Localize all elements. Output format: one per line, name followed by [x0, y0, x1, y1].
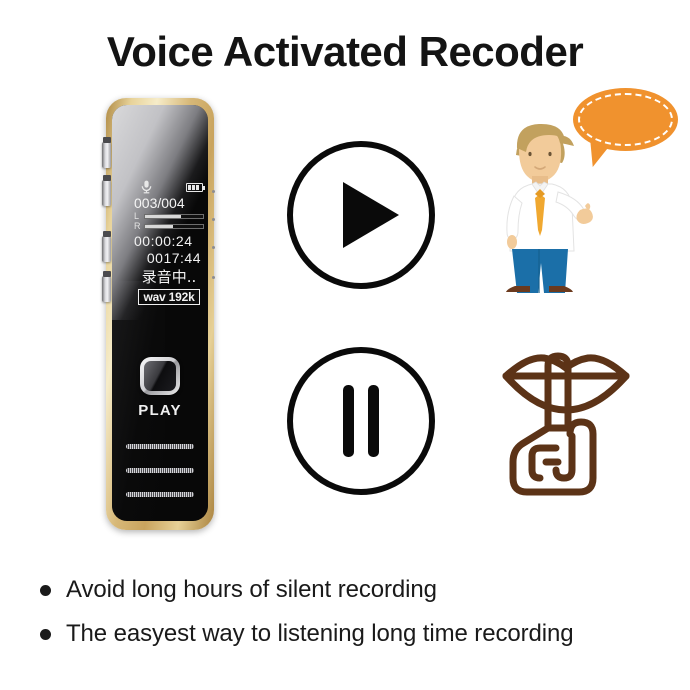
speaking-man-illustration	[488, 88, 688, 293]
device-play-button[interactable]	[140, 357, 180, 395]
device-edge-dot	[212, 246, 215, 249]
list-item: Avoid long hours of silent recording	[40, 575, 660, 605]
lcd-level-meter-left: L	[134, 212, 204, 221]
page-title: Voice Activated Recoder	[0, 28, 690, 76]
device-edge-dot	[212, 190, 215, 193]
lcd-status-text: 录音中..	[134, 268, 204, 286]
bullet-dot-icon	[40, 629, 51, 640]
lcd-level-meter-right: R	[134, 222, 204, 231]
speaker-grille-slot	[126, 492, 194, 497]
lcd-format-badge: wav 192k	[138, 289, 200, 305]
device-edge-dot	[212, 276, 215, 279]
microphone-icon	[141, 180, 152, 199]
lcd-total-time: 0017:44	[134, 250, 204, 267]
device-speaker-grille	[126, 444, 194, 497]
device-side-button-1[interactable]	[102, 142, 111, 168]
device-lcd-screen: 003/004 L R 00:00:24 0017:44 录音中.. wav 1…	[134, 180, 204, 288]
feature-bullet-text: The easyest way to listening long time r…	[66, 619, 573, 649]
list-item: The easyest way to listening long time r…	[40, 619, 660, 649]
battery-icon	[186, 183, 203, 192]
device-play-button-label: PLAY	[112, 402, 208, 419]
speaker-grille-slot	[126, 468, 194, 473]
bullet-dot-icon	[40, 585, 51, 596]
device-side-button-3[interactable]	[102, 236, 111, 262]
device-side-button-4[interactable]	[102, 276, 111, 302]
feature-bullet-list: Avoid long hours of silent recording The…	[40, 575, 660, 663]
device-front-panel: 003/004 L R 00:00:24 0017:44 录音中.. wav 1…	[112, 105, 208, 521]
pause-circle-icon[interactable]	[287, 347, 435, 495]
digital-voice-recorder: 003/004 L R 00:00:24 0017:44 录音中.. wav 1…	[106, 98, 214, 530]
shush-silence-icon	[498, 336, 670, 506]
device-side-button-2[interactable]	[102, 180, 111, 206]
play-circle-icon[interactable]	[287, 141, 435, 289]
speaker-grille-slot	[126, 444, 194, 449]
lcd-channel-label-r: R	[134, 222, 144, 231]
man-figure	[488, 88, 688, 293]
play-triangle-icon	[343, 182, 399, 248]
lcd-elapsed-time: 00:00:24	[134, 233, 204, 250]
pause-bars-icon	[293, 385, 429, 457]
lcd-channel-label-l: L	[134, 212, 144, 221]
feature-bullet-text: Avoid long hours of silent recording	[66, 575, 437, 605]
device-edge-dot	[212, 218, 215, 221]
